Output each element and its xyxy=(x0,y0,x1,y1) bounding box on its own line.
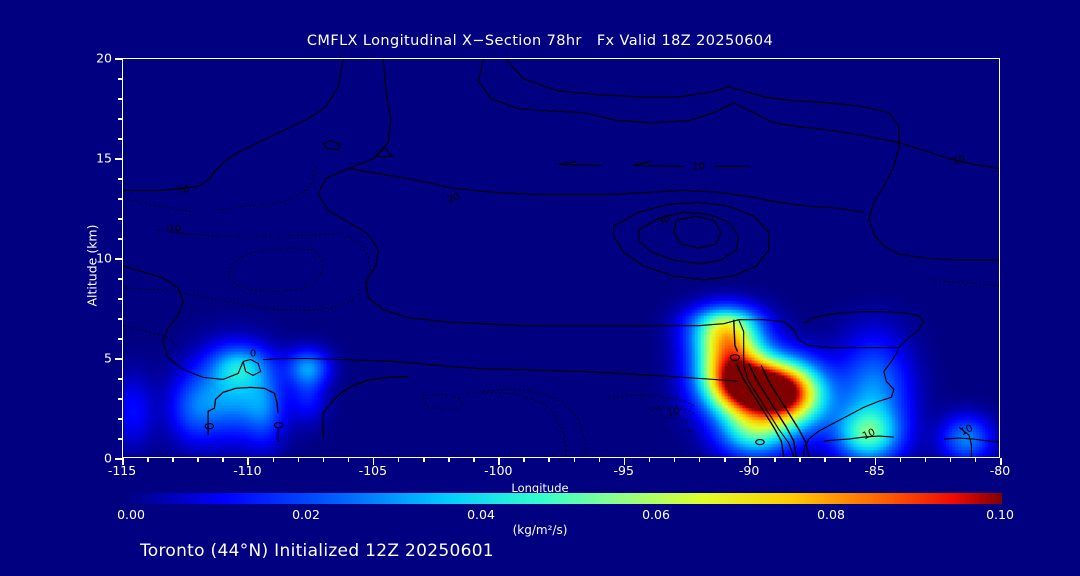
x-tickmark-minor xyxy=(574,458,576,462)
contour-10-upper-left xyxy=(123,59,343,190)
x-tickmark-minor xyxy=(348,458,350,462)
x-tickmark-minor xyxy=(548,458,550,462)
contour-plume-stem-upper xyxy=(734,320,738,352)
contour-fareast-lowline xyxy=(944,438,999,442)
figure-canvas: CMFLX Longitudinal X−Section 78hr Fx Val… xyxy=(0,0,1080,576)
colorbar-ticklabel-0p06: 0.06 xyxy=(642,507,670,522)
contour-node-marker xyxy=(205,424,213,429)
y-tickmark-minor xyxy=(118,198,122,200)
contour-neg-right-strand xyxy=(929,280,999,286)
x-tickmark-minor xyxy=(197,458,199,462)
contour-0-midlevel xyxy=(263,358,739,381)
x-tickmark-minor xyxy=(323,458,325,462)
x-ticklabel--110: -110 xyxy=(233,463,261,478)
contour-10-upper-right xyxy=(478,59,999,168)
contour-right-descending xyxy=(804,350,899,457)
colorbar-units-label: (kg/m²/s) xyxy=(0,523,1080,537)
contour-label: 10 xyxy=(177,184,190,195)
contour-right-lowline xyxy=(824,436,894,441)
y-ticklabel-15: 15 xyxy=(96,151,112,166)
y-tickmark-minor xyxy=(118,178,122,180)
x-tickmark-minor xyxy=(724,458,726,462)
y-tickmark-minor xyxy=(118,418,122,420)
contour-right-dome xyxy=(804,312,924,348)
contour-jet-ring-mid xyxy=(639,212,739,264)
contour-lowlevel-left-boundary xyxy=(208,387,278,435)
contour-label: 10 xyxy=(666,406,681,419)
contour-node-marker xyxy=(756,439,764,444)
contour-label: 0 xyxy=(250,349,256,360)
contour-label: 10 xyxy=(861,427,877,442)
x-tickmark-minor xyxy=(649,458,651,462)
y-tickmark-minor xyxy=(118,78,122,80)
contour-jet-ring-inner xyxy=(674,216,721,248)
x-tickmark-minor xyxy=(774,458,776,462)
x-tickmark-minor xyxy=(674,458,676,462)
contour-lowlevel-left-boundary-2 xyxy=(323,376,408,437)
contour-neg-mid-label-tick xyxy=(651,408,662,410)
contour-jet-ring-outer xyxy=(614,202,769,280)
contour-plume-stem-lower-3 xyxy=(761,365,808,457)
y-axis-title: Altitude (km) xyxy=(85,166,100,366)
contour-label: 10 xyxy=(959,423,975,438)
y-tickmark xyxy=(115,358,122,360)
contour-neg20-left-oval xyxy=(228,248,323,292)
y-ticklabel-20: 20 xyxy=(96,51,112,66)
x-tickmark-minor xyxy=(799,458,801,462)
contour-label: 10 xyxy=(951,154,966,168)
plot-area: 10101020300-10101010 xyxy=(122,58,1000,458)
contour-label: -10 xyxy=(165,224,181,235)
footer-caption: Toronto (44°N) Initialized 12Z 20250601 xyxy=(140,541,494,561)
x-ticklabel--95: -95 xyxy=(613,463,633,478)
x-tickmark-minor xyxy=(423,458,425,462)
colorbar-ticklabel-0p00: 0.00 xyxy=(117,507,145,522)
x-tickmark-minor xyxy=(398,458,400,462)
contour-neg-mid-arc-2 xyxy=(483,389,586,457)
x-tickmark-minor xyxy=(273,458,275,462)
contour-10-seg-b xyxy=(634,165,684,166)
contour-10-seg-a-tick xyxy=(559,161,577,164)
x-tickmark-minor xyxy=(824,458,826,462)
x-tickmark-minor xyxy=(599,458,601,462)
contour-10-seg-a xyxy=(559,164,602,165)
colorbar-gradient xyxy=(125,493,1002,504)
y-tickmark-minor xyxy=(118,118,122,120)
chart-title: CMFLX Longitudinal X−Section 78hr Fx Val… xyxy=(0,33,1080,49)
colorbar xyxy=(125,493,1002,504)
contour-neg-left-strand-top xyxy=(123,198,193,212)
x-ticklabel--85: -85 xyxy=(864,463,884,478)
colorbar-ticklabel-0p04: 0.04 xyxy=(467,507,495,522)
y-tickmark-minor xyxy=(118,338,122,340)
contour-10-seg-b-tick xyxy=(634,161,652,165)
contour-neg10-left-outer xyxy=(123,232,371,311)
y-tickmark-minor xyxy=(118,138,122,140)
x-tickmark-minor xyxy=(222,458,224,462)
contour-neg-mid-small-1 xyxy=(423,394,463,409)
contour-neg-mid-arc-6 xyxy=(684,430,697,432)
x-tickmark-minor xyxy=(147,458,149,462)
colorbar-ticklabel-0p08: 0.08 xyxy=(817,507,845,522)
contour-right-midlevel-0 xyxy=(739,320,899,348)
y-ticklabel-5: 5 xyxy=(104,351,112,366)
contour-tiny-triangle xyxy=(376,148,392,157)
y-tickmark-minor xyxy=(118,318,122,320)
x-ticklabel--90: -90 xyxy=(739,463,759,478)
x-tickmark-minor xyxy=(473,458,475,462)
x-tickmark-minor xyxy=(523,458,525,462)
x-tickmark-minor xyxy=(298,458,300,462)
x-tickmark-minor xyxy=(900,458,902,462)
colorbar-ticklabel-0p02: 0.02 xyxy=(292,507,320,522)
contour-20-descend xyxy=(669,320,794,457)
x-tickmark-minor xyxy=(172,458,174,462)
y-tickmark xyxy=(115,158,122,160)
contour-20-upper-branch xyxy=(348,168,864,212)
y-tickmark-minor xyxy=(118,278,122,280)
y-tickmark xyxy=(115,258,122,260)
contour-neg-mid-arc-1 xyxy=(468,392,566,457)
x-ticklabel--115: -115 xyxy=(108,463,136,478)
x-tickmark-minor xyxy=(975,458,977,462)
x-ticklabel--100: -100 xyxy=(484,463,512,478)
y-tickmark xyxy=(115,58,122,60)
y-tickmark-minor xyxy=(118,98,122,100)
x-tickmark-minor xyxy=(448,458,450,462)
y-tickmark-minor xyxy=(118,378,122,380)
contour-small-closed-upper xyxy=(323,141,339,150)
contour-10-outer-right-loop xyxy=(506,59,999,260)
contour-neg-left-strand-arc xyxy=(218,166,316,210)
contour-plume-stem-lower xyxy=(736,363,784,457)
contour-node-marker xyxy=(730,355,739,361)
contour-node-marker xyxy=(274,423,282,428)
contour-left-small-loop xyxy=(243,359,261,375)
x-tickmark-minor xyxy=(950,458,952,462)
contour-neg10-left-top xyxy=(158,230,333,236)
y-tickmark-minor xyxy=(118,238,122,240)
y-tickmark-minor xyxy=(118,218,122,220)
contour-label: 10 xyxy=(692,161,705,172)
y-tickmark-minor xyxy=(118,298,122,300)
y-tickmark-minor xyxy=(118,438,122,440)
x-ticklabel--80: -80 xyxy=(990,463,1010,478)
contour-neg-left-strand-lower xyxy=(123,326,178,348)
x-tickmark-minor xyxy=(925,458,927,462)
isotach-contours: 10101020300-10101010 xyxy=(123,59,999,457)
colorbar-ticklabel-0p10: 0.10 xyxy=(986,507,1014,522)
x-ticklabel--105: -105 xyxy=(359,463,387,478)
y-tickmark-minor xyxy=(118,398,122,400)
y-tickmark xyxy=(115,458,122,460)
contour-neg-mid-arc-3 xyxy=(609,395,694,405)
x-tickmark-minor xyxy=(699,458,701,462)
contour-label: 20 xyxy=(446,192,461,206)
contour-left-front-upper xyxy=(123,266,243,379)
x-tickmark-minor xyxy=(849,458,851,462)
